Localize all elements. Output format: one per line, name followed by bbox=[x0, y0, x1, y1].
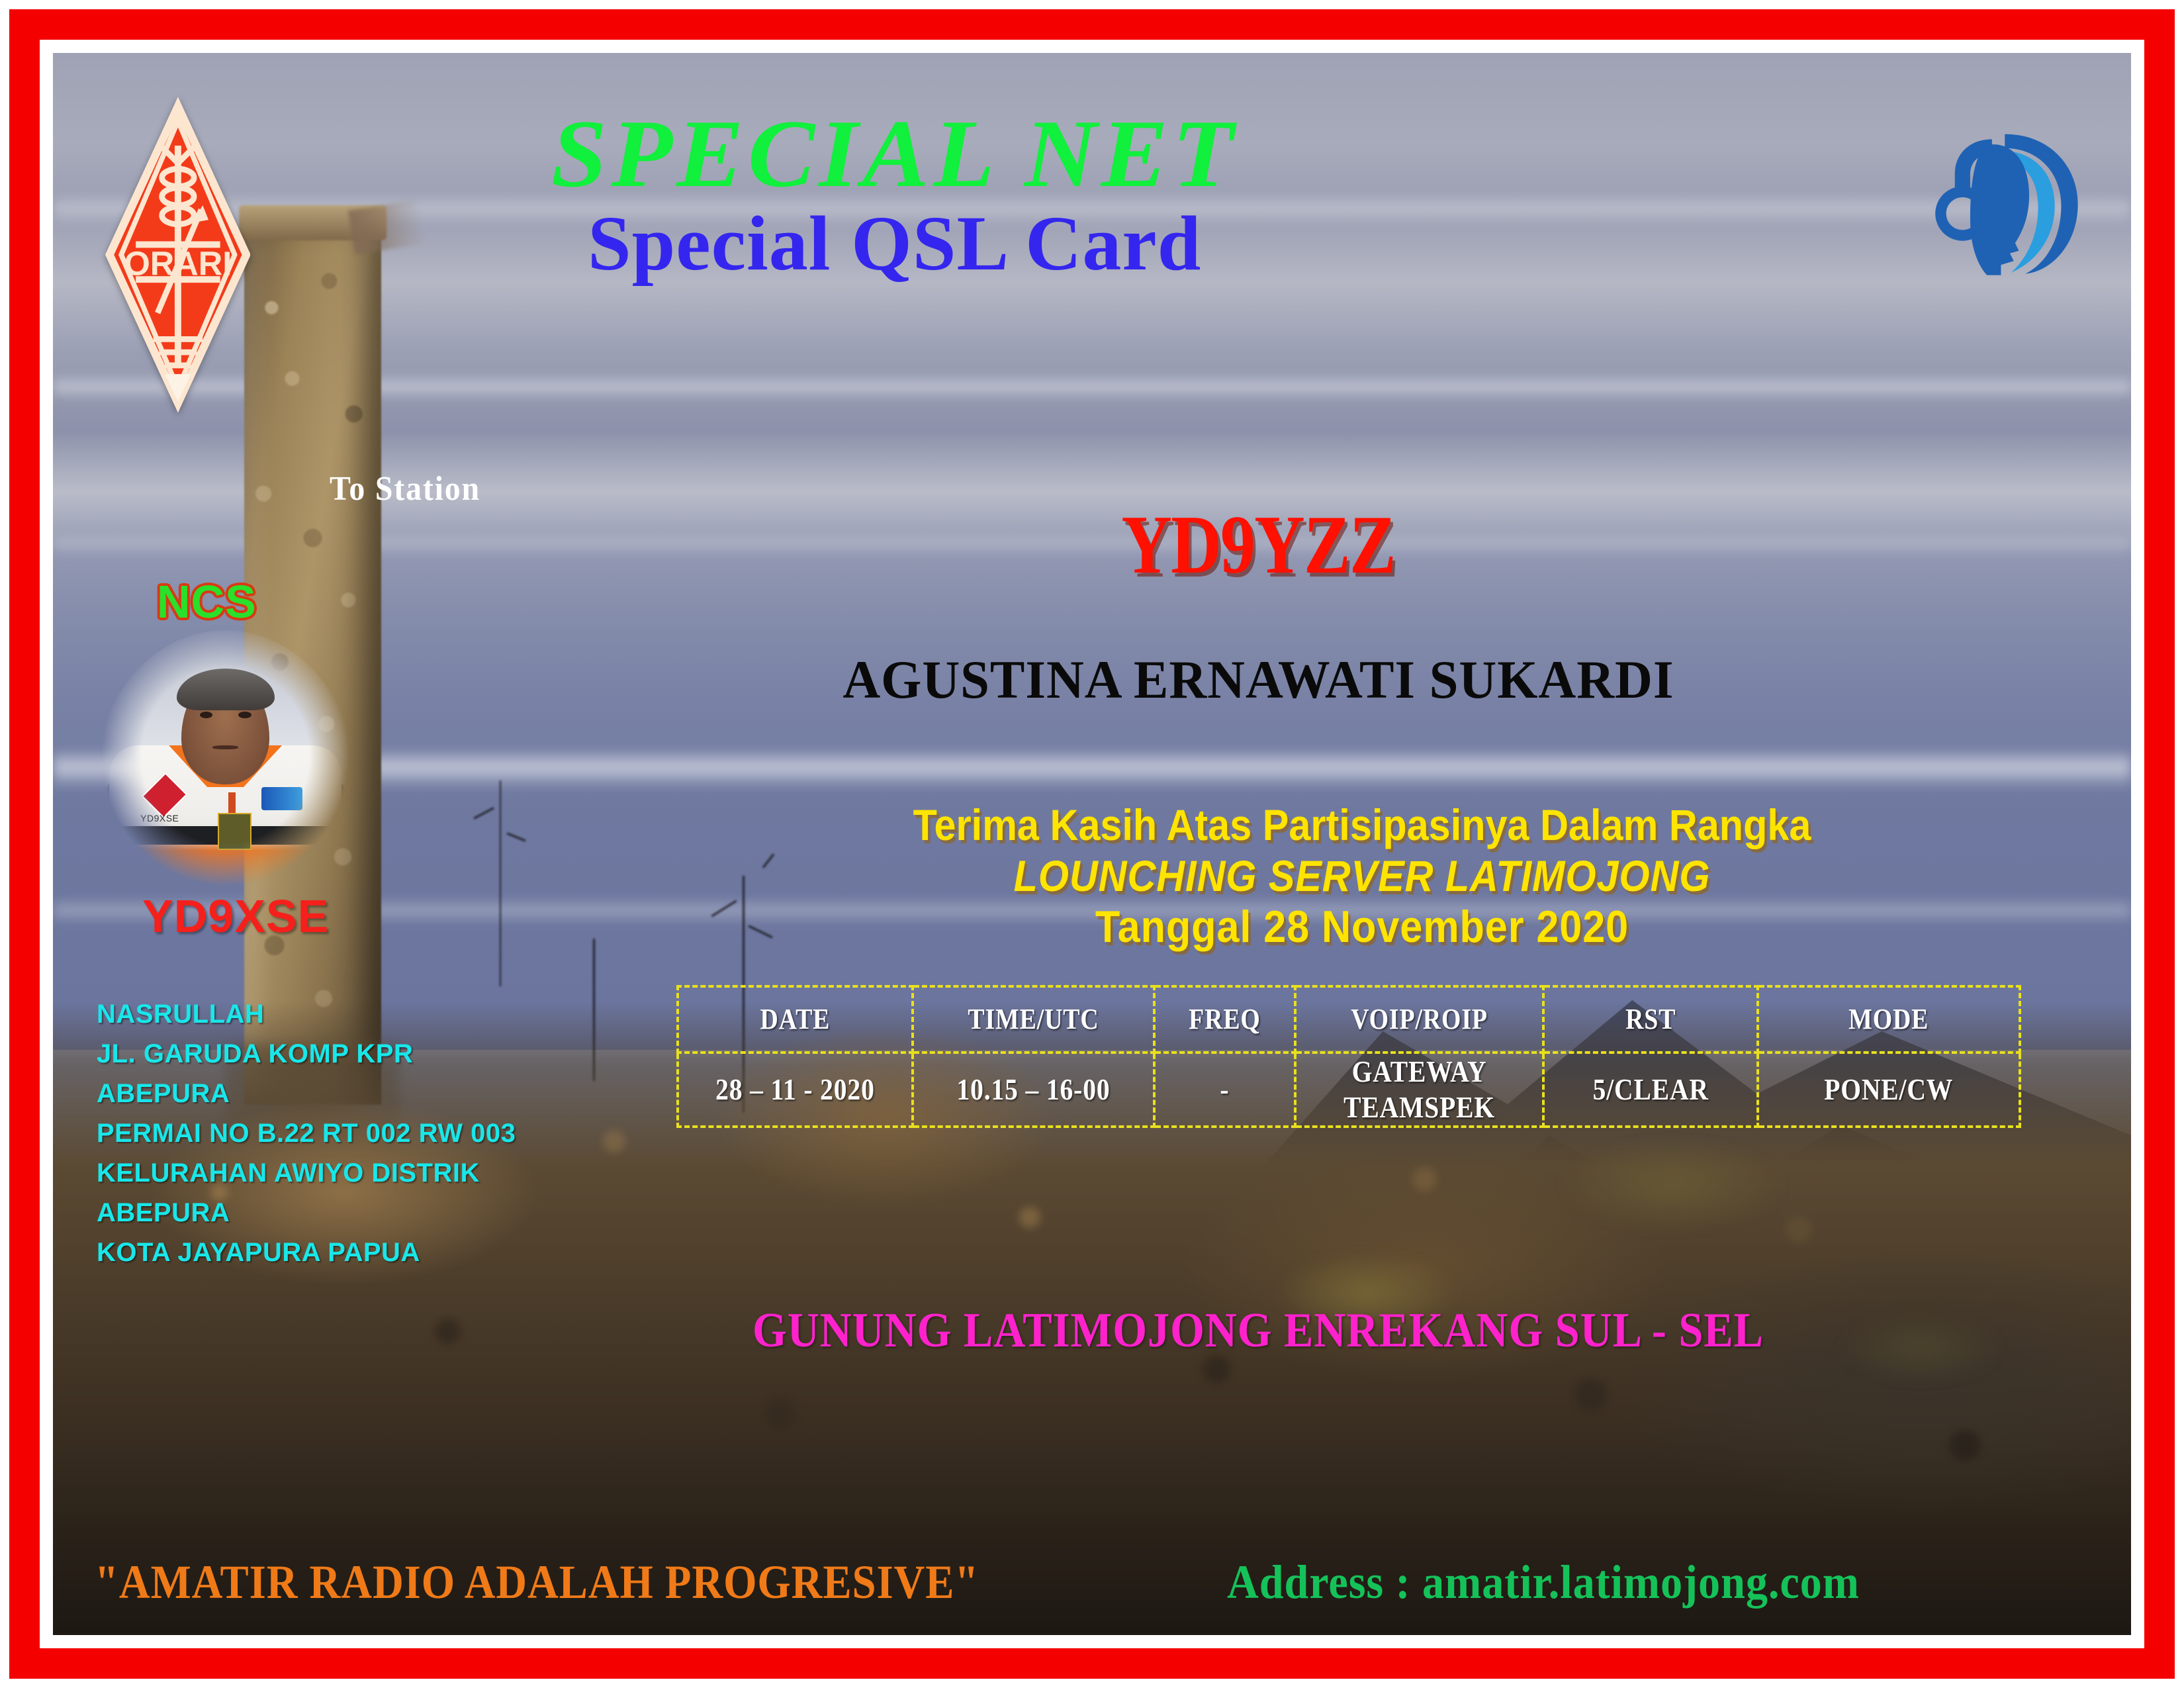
thanks-line-2: LOUNCHING SERVER LATIMOJONG bbox=[801, 851, 1923, 902]
station-callsign: YD9YZZ bbox=[857, 504, 1660, 587]
table-header-row: DATE TIME/UTC FREQ VOIP/ROIP RST MODE bbox=[678, 986, 2020, 1053]
photo-chest-logo bbox=[261, 787, 302, 810]
cell-voip-line-1: GATEWAY bbox=[1351, 1055, 1486, 1088]
cell-freq: - bbox=[1164, 1053, 1285, 1127]
column-header-rst: RST bbox=[1558, 986, 1743, 1053]
column-header-voip: VOIP/ROIP bbox=[1312, 986, 1526, 1053]
cell-mode: PONE/CW bbox=[1776, 1053, 2001, 1127]
page-subtitle-qsl-card: Special QSL Card bbox=[250, 205, 1539, 283]
photo-eye-right bbox=[238, 712, 251, 718]
mailing-address: NASRULLAH JL. GARUDA KOMP KPR ABEPURA PE… bbox=[97, 994, 720, 1272]
address-line: PERMAI NO B.22 RT 002 RW 003 bbox=[97, 1113, 720, 1153]
cell-date: 28 – 11 - 2020 bbox=[694, 1053, 896, 1127]
address-line: KOTA JAYAPURA PAPUA bbox=[97, 1233, 720, 1272]
cell-voip: GATEWAY TEAMSPEK bbox=[1312, 1053, 1526, 1127]
address-line: ABEPURA bbox=[97, 1193, 720, 1233]
address-line: NASRULLAH bbox=[97, 994, 720, 1034]
location-line: GUNUNG LATIMOJONG ENREKANG SUL - SEL bbox=[697, 1303, 1819, 1359]
orari-logo-text: ORARI bbox=[124, 244, 232, 282]
photo-mouth bbox=[212, 745, 238, 749]
web-address: Address : amatir.latimojong.com bbox=[1227, 1555, 1860, 1610]
table-row: 28 – 11 - 2020 10.15 – 16-00 - GATEWAY T… bbox=[678, 1053, 2020, 1127]
column-header-freq: FREQ bbox=[1164, 986, 1285, 1053]
thanks-line-3: Tanggal 28 November 2020 bbox=[801, 901, 1923, 953]
address-line: ABEPURA bbox=[97, 1074, 720, 1113]
thanks-line-1: Terima Kasih Atas Partisipasinya Dalam R… bbox=[801, 800, 1923, 851]
operator-name: AGUSTINA ERNAWATI SUKARDI bbox=[640, 653, 1877, 707]
qso-log-table: DATE TIME/UTC FREQ VOIP/ROIP RST MODE 28… bbox=[676, 985, 2021, 1129]
cell-rst: 5/CLEAR bbox=[1558, 1053, 1743, 1127]
column-header-time: TIME/UTC bbox=[929, 986, 1137, 1053]
photo-eye-left bbox=[200, 712, 212, 718]
address-line: KELURAHAN AWIYO DISTRIK bbox=[97, 1153, 720, 1193]
tree-silhouette bbox=[500, 780, 501, 986]
page-title-special-net: SPECIAL NET bbox=[224, 105, 1565, 202]
column-header-date: DATE bbox=[694, 986, 896, 1053]
ncs-callsign: YD9XSE bbox=[142, 890, 329, 943]
card-background-photo: ORARI SPECIAL NET Special QSL Card To St… bbox=[53, 53, 2131, 1635]
column-header-mode: MODE bbox=[1776, 986, 2001, 1053]
address-line: JL. GARUDA KOMP KPR bbox=[97, 1034, 720, 1074]
cell-time: 10.15 – 16-00 bbox=[929, 1053, 1137, 1127]
ncs-label: NCS bbox=[157, 575, 257, 628]
photo-id-card bbox=[218, 813, 251, 849]
cell-voip-line-2: TEAMSPEK bbox=[1343, 1090, 1495, 1124]
ncs-operator-photo: YD9XSE bbox=[97, 630, 354, 891]
qsl-card: ORARI SPECIAL NET Special QSL Card To St… bbox=[0, 0, 2184, 1688]
to-station-label: To Station bbox=[330, 469, 480, 508]
thanks-message: Terima Kasih Atas Partisipasinya Dalam R… bbox=[739, 800, 1985, 953]
photo-badge-callsign: YD9XSE bbox=[140, 813, 179, 823]
motto-text: "AMATIR RADIO ADALAH PROGRESIVE" bbox=[95, 1555, 979, 1610]
headphone-profile-icon bbox=[1929, 72, 2083, 333]
